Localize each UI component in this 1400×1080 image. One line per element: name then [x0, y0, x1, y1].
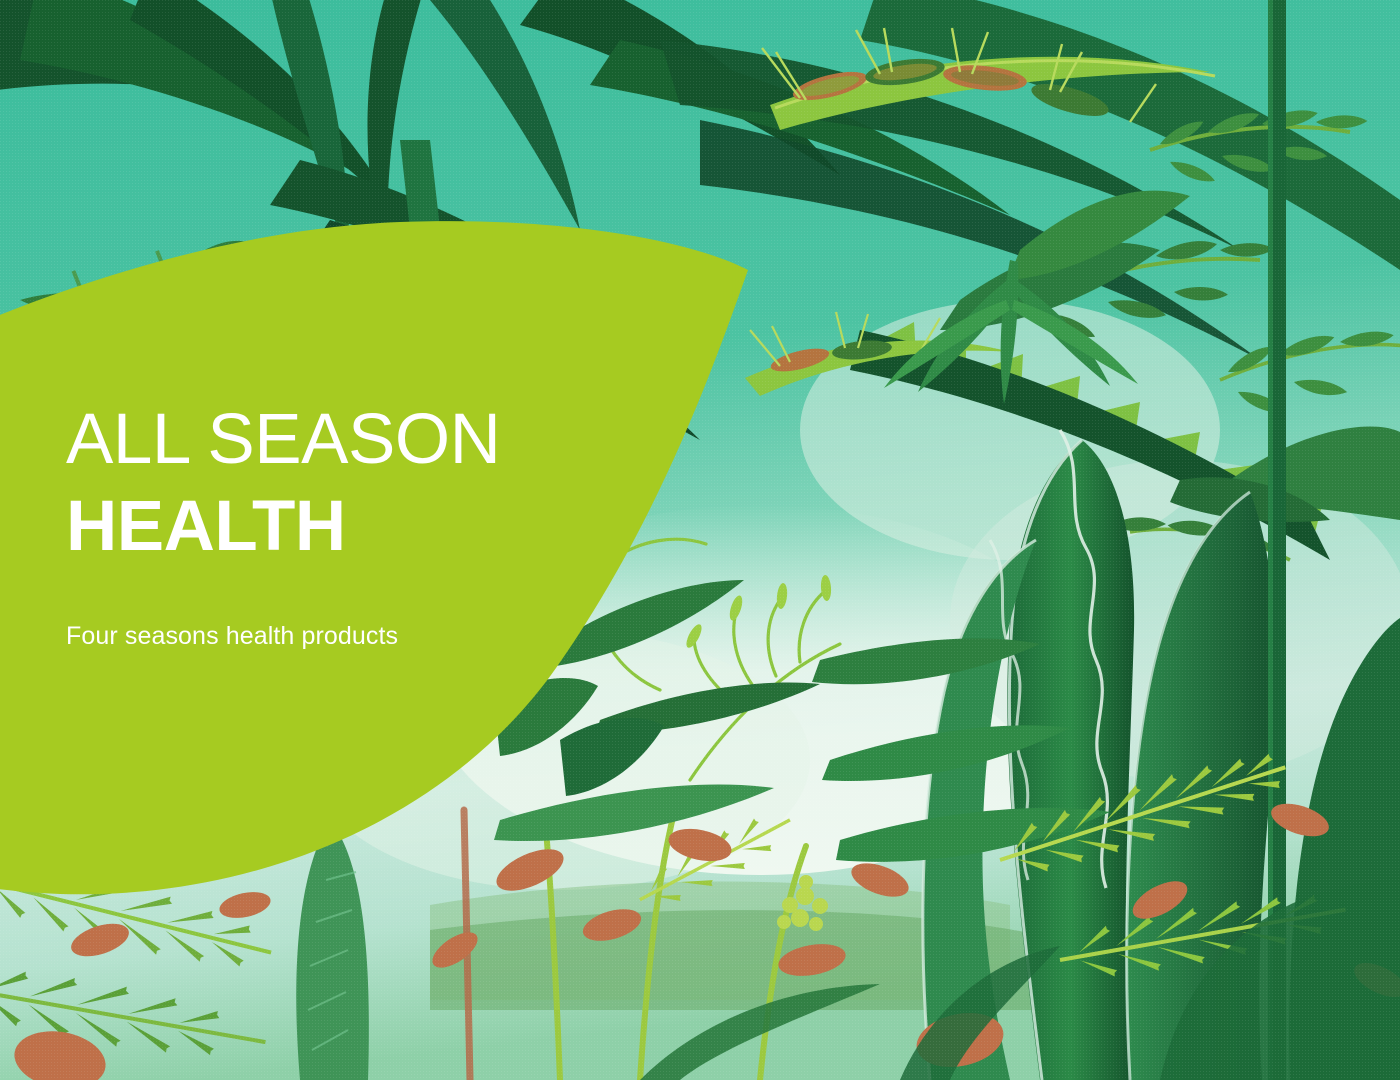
headline-line-2: HEALTH [66, 491, 546, 562]
subtitle: Four seasons health products [66, 622, 546, 651]
poster-canvas: ALL SEASON HEALTH Four seasons health pr… [0, 0, 1400, 1080]
headline-line-1: ALL SEASON [66, 404, 546, 475]
headline-block: ALL SEASON HEALTH Four seasons health pr… [66, 404, 546, 651]
